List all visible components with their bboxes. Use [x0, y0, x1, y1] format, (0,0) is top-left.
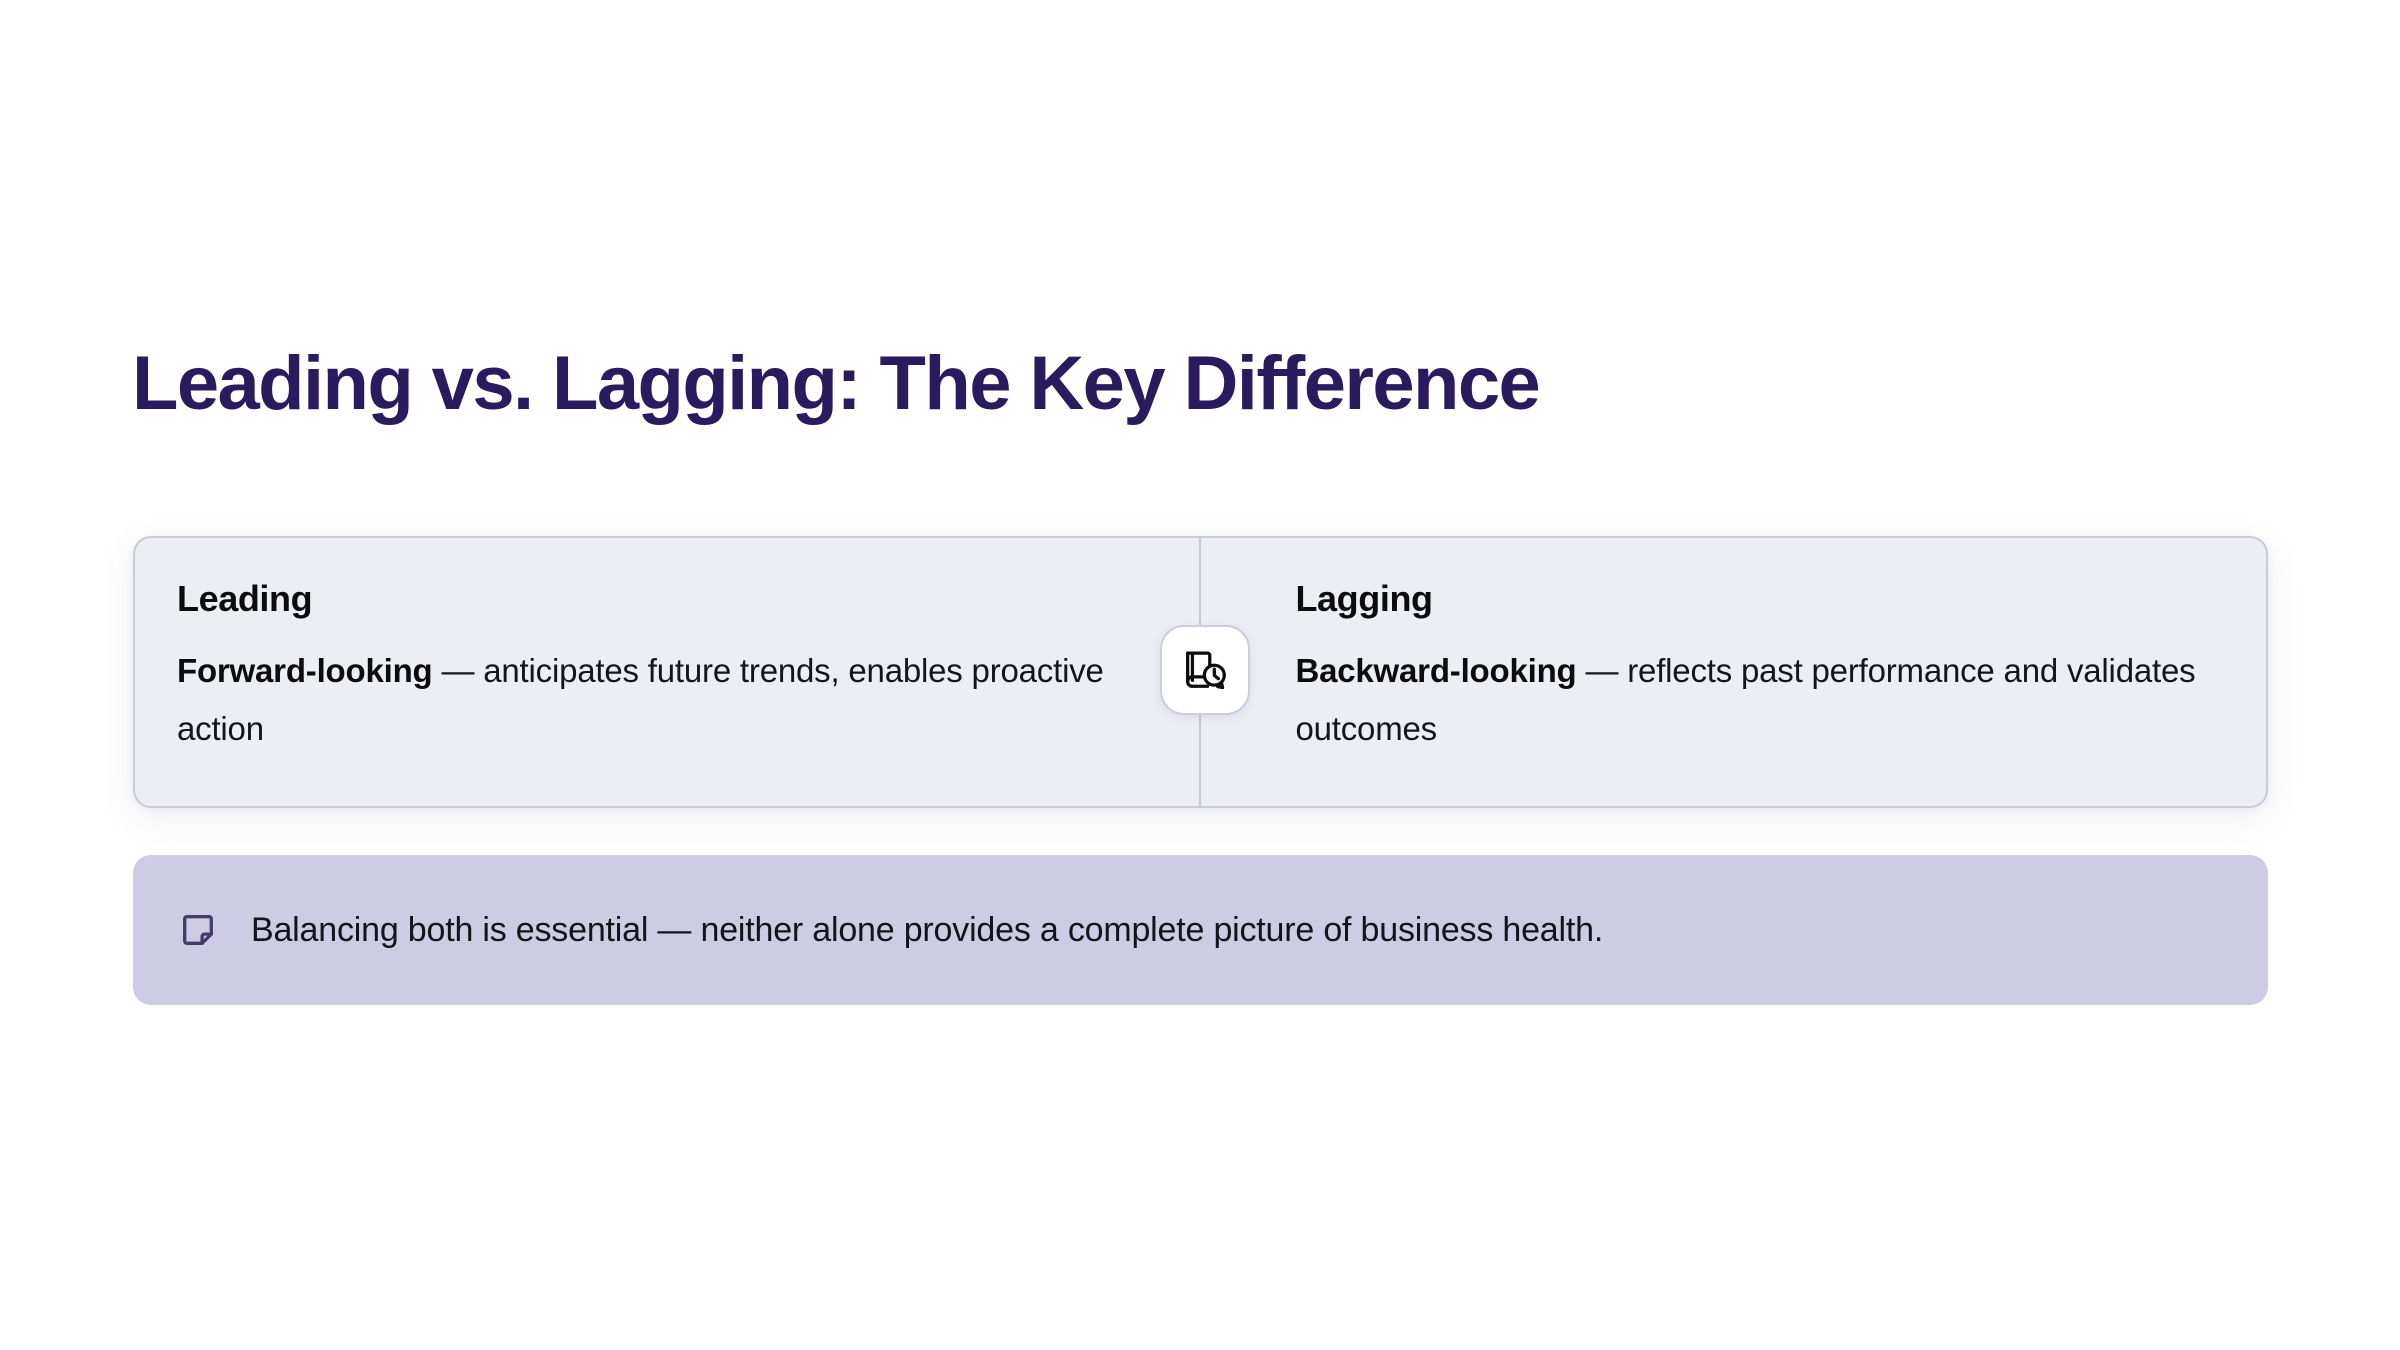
comparison-column-lagging: Lagging Backward-looking — reflects past…	[1201, 538, 2266, 806]
slide-root: Leading vs. Lagging: The Key Difference …	[0, 0, 2400, 1350]
note-text: Balancing both is essential — neither al…	[251, 908, 1603, 952]
page-title: Leading vs. Lagging: The Key Difference	[132, 338, 2232, 430]
column-lead-in-lagging: Backward-looking	[1295, 652, 1576, 689]
column-dash-lagging: —	[1577, 652, 1628, 689]
column-body-lagging: Backward-looking — reflects past perform…	[1295, 642, 2218, 758]
column-heading-leading: Leading	[177, 578, 1145, 620]
column-body-leading: Forward-looking — anticipates future tre…	[177, 642, 1145, 758]
note-banner: Balancing both is essential — neither al…	[133, 855, 2268, 1005]
center-icon-badge	[1160, 625, 1250, 715]
column-dash-leading: —	[433, 652, 484, 689]
comparison-column-leading: Leading Forward-looking — anticipates fu…	[135, 538, 1199, 806]
column-heading-lagging: Lagging	[1295, 578, 2218, 620]
book-clock-history-icon	[1179, 644, 1231, 696]
column-lead-in-leading: Forward-looking	[177, 652, 433, 689]
sticky-note-icon	[177, 909, 219, 951]
